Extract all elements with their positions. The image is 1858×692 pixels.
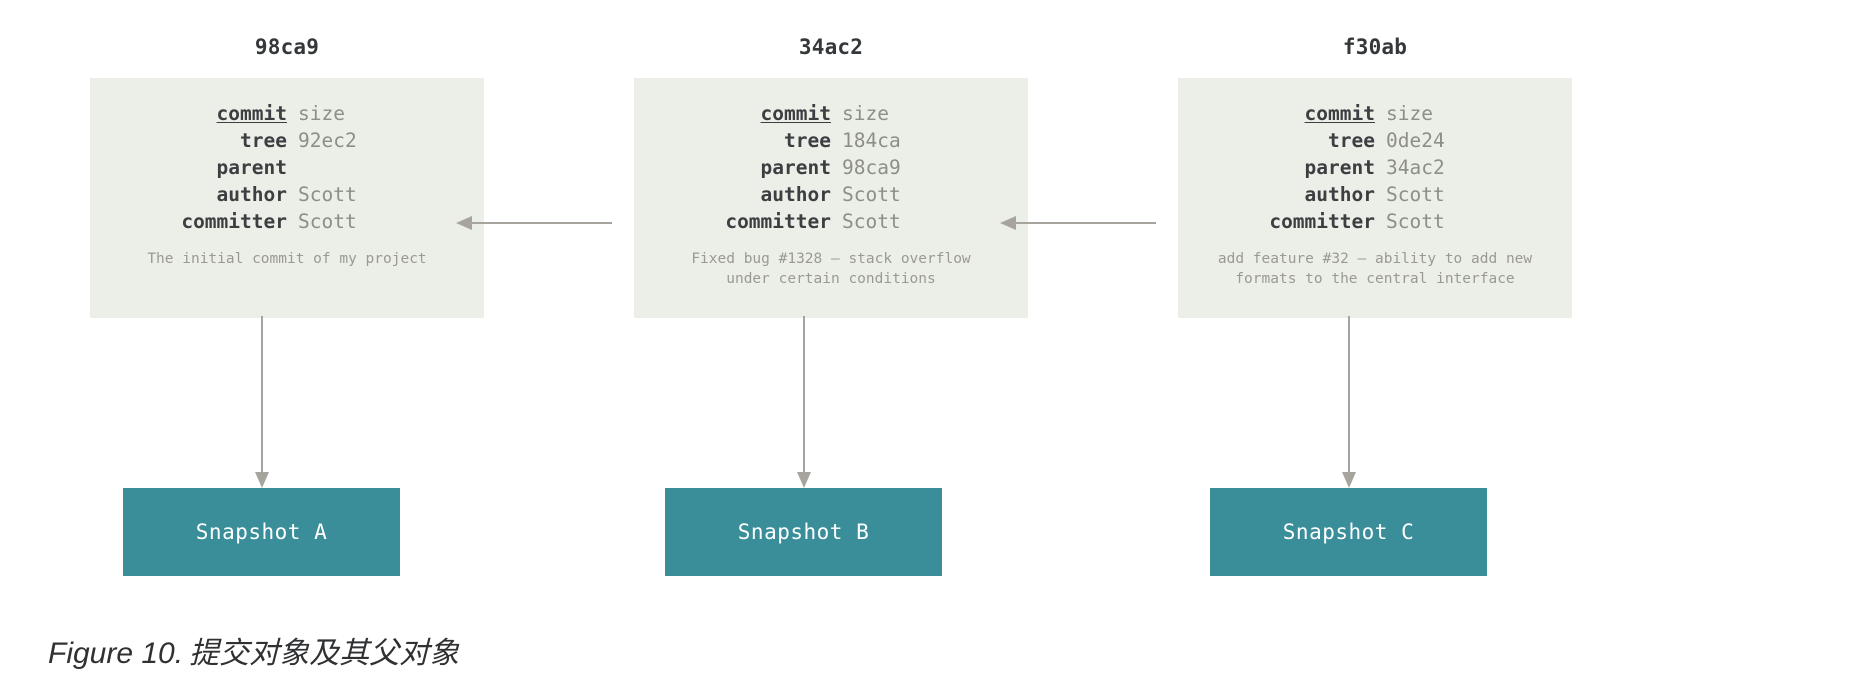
commit-fields: commit size tree 184ca parent 98ca9 auth… (634, 78, 1028, 237)
field-value-author: Scott (287, 183, 429, 206)
commit-box-98ca9: commit size tree 92ec2 parent author Sco… (90, 78, 484, 318)
field-row-parent: parent (90, 156, 484, 183)
commit-box-f30ab: commit size tree 0de24 parent 34ac2 auth… (1178, 78, 1572, 318)
field-value-parent: 98ca9 (831, 156, 973, 179)
arrow-shaft (261, 316, 263, 472)
field-value-committer: Scott (831, 210, 973, 233)
field-row-tree: tree 184ca (634, 129, 1028, 156)
field-label-parent: parent (689, 156, 831, 179)
field-label-author: author (145, 183, 287, 206)
field-label-parent: parent (145, 156, 287, 179)
field-value-committer: Scott (287, 210, 429, 233)
snapshot-arrow-98ca9 (255, 316, 269, 488)
field-value-commit: size (287, 102, 429, 125)
snapshot-box-c: Snapshot C (1210, 488, 1487, 576)
field-label-committer: committer (145, 210, 287, 233)
field-value-commit: size (1375, 102, 1517, 125)
figure-caption-label: Figure 10. (48, 637, 183, 670)
field-label-author: author (689, 183, 831, 206)
field-label-commit: commit (689, 102, 831, 125)
arrow-shaft (470, 222, 612, 224)
arrow-head-down-icon (1342, 472, 1356, 488)
field-row-parent: parent 98ca9 (634, 156, 1028, 183)
arrow-head-down-icon (797, 472, 811, 488)
field-label-commit: commit (1233, 102, 1375, 125)
snapshot-label-c: Snapshot C (1283, 520, 1414, 544)
commit-title-f30ab: f30ab (1140, 30, 1610, 64)
commit-title-98ca9: 98ca9 (52, 30, 522, 64)
field-row-author: author Scott (90, 183, 484, 210)
field-label-committer: committer (1233, 210, 1375, 233)
snapshot-arrow-34ac2 (797, 316, 811, 488)
field-label-parent: parent (1233, 156, 1375, 179)
commit-message-f30ab: add feature #32 – ability to add new for… (1178, 249, 1572, 289)
arrow-shaft (803, 316, 805, 472)
snapshot-box-a: Snapshot A (123, 488, 400, 576)
field-row-committer: committer Scott (634, 210, 1028, 237)
field-value-committer: Scott (1375, 210, 1517, 233)
field-value-author: Scott (1375, 183, 1517, 206)
snapshot-box-b: Snapshot B (665, 488, 942, 576)
field-row-committer: committer Scott (1178, 210, 1572, 237)
snapshot-arrow-f30ab (1342, 316, 1356, 488)
field-value-tree: 0de24 (1375, 129, 1517, 152)
field-row-commit: commit size (634, 102, 1028, 129)
commit-message-34ac2: Fixed bug #1328 – stack overflow under c… (634, 249, 1028, 289)
commit-column-34ac2: 34ac2 commit size tree 184ca parent 98ca… (596, 30, 1066, 318)
field-value-author: Scott (831, 183, 973, 206)
field-label-committer: committer (689, 210, 831, 233)
field-label-tree: tree (689, 129, 831, 152)
field-value-parent: 34ac2 (1375, 156, 1517, 179)
arrow-shaft (1014, 222, 1156, 224)
figure-caption-text: 提交对象及其父对象 (189, 637, 459, 670)
field-row-commit: commit size (90, 102, 484, 129)
field-row-author: author Scott (634, 183, 1028, 210)
field-row-committer: committer Scott (90, 210, 484, 237)
arrow-head-down-icon (255, 472, 269, 488)
arrow-shaft (1348, 316, 1350, 472)
field-value-commit: size (831, 102, 973, 125)
snapshot-label-a: Snapshot A (196, 520, 327, 544)
commit-column-98ca9: 98ca9 commit size tree 92ec2 parent auth… (52, 30, 522, 318)
field-label-tree: tree (1233, 129, 1375, 152)
commit-message-98ca9: The initial commit of my project (90, 249, 484, 269)
commit-fields: commit size tree 0de24 parent 34ac2 auth… (1178, 78, 1572, 237)
field-row-tree: tree 0de24 (1178, 129, 1572, 156)
commit-title-34ac2: 34ac2 (596, 30, 1066, 64)
field-row-commit: commit size (1178, 102, 1572, 129)
snapshot-label-b: Snapshot B (738, 520, 869, 544)
field-row-tree: tree 92ec2 (90, 129, 484, 156)
commit-fields: commit size tree 92ec2 parent author Sco… (90, 78, 484, 237)
field-label-tree: tree (145, 129, 287, 152)
commit-column-f30ab: f30ab commit size tree 0de24 parent 34ac… (1140, 30, 1610, 318)
commit-box-34ac2: commit size tree 184ca parent 98ca9 auth… (634, 78, 1028, 318)
field-value-tree: 92ec2 (287, 129, 429, 152)
field-value-tree: 184ca (831, 129, 973, 152)
field-label-commit: commit (145, 102, 287, 125)
figure-caption: Figure 10.提交对象及其父对象 (48, 628, 459, 672)
commit-objects-diagram: 98ca9 commit size tree 92ec2 parent auth… (0, 0, 1858, 692)
parent-arrow-34ac2-to-98ca9 (456, 216, 612, 230)
field-label-author: author (1233, 183, 1375, 206)
field-row-parent: parent 34ac2 (1178, 156, 1572, 183)
parent-arrow-f30ab-to-34ac2 (1000, 216, 1156, 230)
field-row-author: author Scott (1178, 183, 1572, 210)
